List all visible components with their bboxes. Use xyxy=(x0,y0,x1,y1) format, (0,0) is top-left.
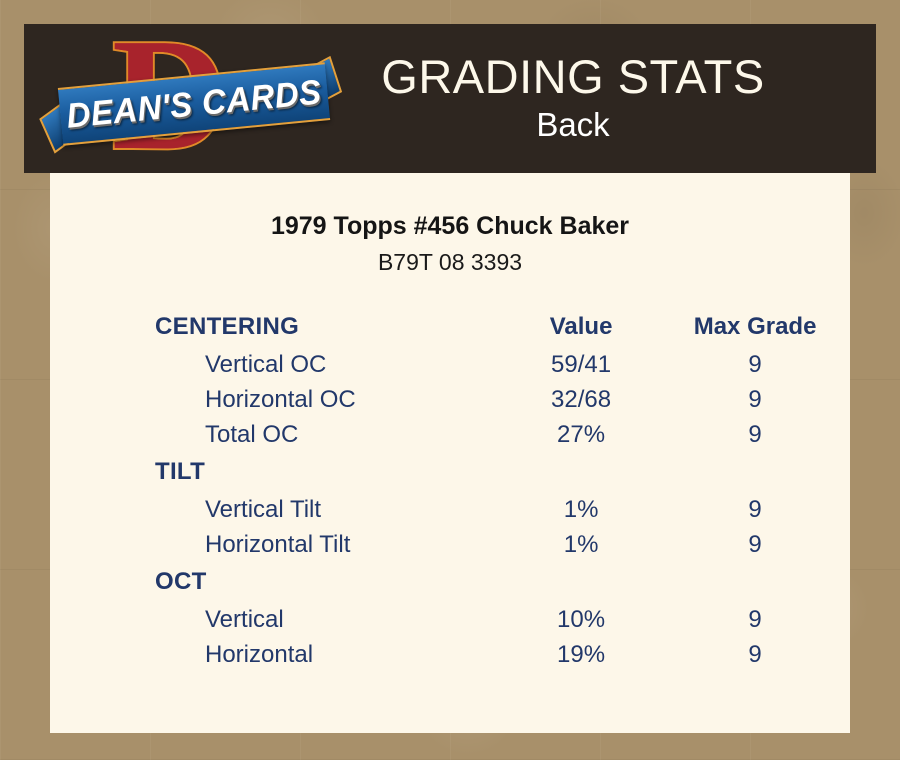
logo-ribbon-text: DEAN'S CARDS xyxy=(65,71,324,135)
grading-stats-table: CENTERINGValueMax GradeVertical OC59/419… xyxy=(50,307,850,672)
stat-value: 10% xyxy=(502,602,660,637)
section-name: OCT xyxy=(50,562,502,602)
table-row: Horizontal Tilt1%9 xyxy=(50,527,850,562)
card-serial-number: B79T 08 3393 xyxy=(50,249,850,276)
stats-section-header: TILT xyxy=(50,452,850,492)
stat-max-grade: 9 xyxy=(660,637,850,672)
page-title: GRADING STATS xyxy=(330,52,816,101)
table-row: Horizontal OC32/689 xyxy=(50,382,850,417)
section-spacer-value xyxy=(502,452,660,492)
table-row: Vertical10%9 xyxy=(50,602,850,637)
stat-label: Vertical Tilt xyxy=(50,492,502,527)
header-bar: D D DEAN'S CARDS GRADING STATS Back xyxy=(24,24,876,173)
column-header-max-grade: Max Grade xyxy=(660,307,850,347)
stat-label: Horizontal Tilt xyxy=(50,527,502,562)
stat-label: Total OC xyxy=(50,417,502,452)
stat-label: Vertical xyxy=(50,602,502,637)
section-spacer-grade xyxy=(660,452,850,492)
section-spacer-value xyxy=(502,562,660,602)
header-title-block: GRADING STATS Back xyxy=(330,52,816,146)
stat-max-grade: 9 xyxy=(660,417,850,452)
section-name: CENTERING xyxy=(50,307,502,347)
table-row: Horizontal19%9 xyxy=(50,637,850,672)
stat-value: 32/68 xyxy=(502,382,660,417)
stat-label: Horizontal OC xyxy=(50,382,502,417)
stat-label: Vertical OC xyxy=(50,347,502,382)
stat-max-grade: 9 xyxy=(660,382,850,417)
content-panel: 1979 Topps #456 Chuck Baker B79T 08 3393… xyxy=(50,173,850,733)
stat-max-grade: 9 xyxy=(660,347,850,382)
stat-max-grade: 9 xyxy=(660,527,850,562)
table-row: Vertical Tilt1%9 xyxy=(50,492,850,527)
stat-max-grade: 9 xyxy=(660,492,850,527)
stat-value: 1% xyxy=(502,492,660,527)
stat-value: 27% xyxy=(502,417,660,452)
card-title: 1979 Topps #456 Chuck Baker xyxy=(50,212,850,241)
stat-label: Horizontal xyxy=(50,637,502,672)
section-spacer-grade xyxy=(660,562,850,602)
table-row: Total OC27%9 xyxy=(50,417,850,452)
stats-section-header: CENTERINGValueMax Grade xyxy=(50,307,850,347)
logo-ribbon-banner: DEAN'S CARDS xyxy=(58,62,330,145)
deans-cards-logo[interactable]: D D DEAN'S CARDS xyxy=(60,29,330,169)
page-subtitle: Back xyxy=(330,104,816,145)
section-name: TILT xyxy=(50,452,502,492)
stat-value: 1% xyxy=(502,527,660,562)
column-header-value: Value xyxy=(502,307,660,347)
stat-value: 19% xyxy=(502,637,660,672)
stat-value: 59/41 xyxy=(502,347,660,382)
stat-max-grade: 9 xyxy=(660,602,850,637)
table-row: Vertical OC59/419 xyxy=(50,347,850,382)
stats-section-header: OCT xyxy=(50,562,850,602)
page-root: D D DEAN'S CARDS GRADING STATS Back 1979… xyxy=(0,0,900,760)
